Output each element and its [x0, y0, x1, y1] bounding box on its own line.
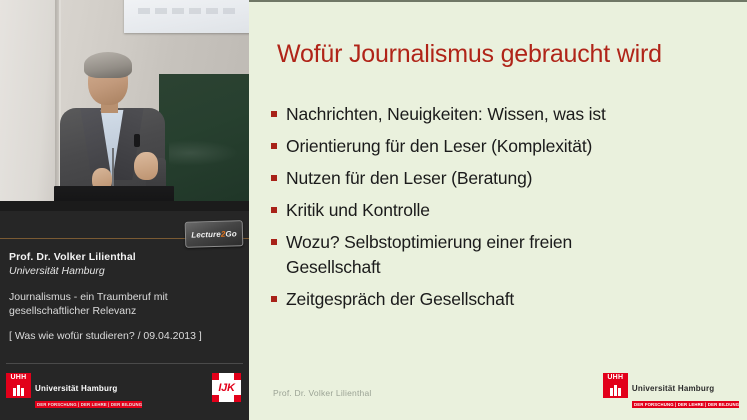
panel-divider [6, 363, 243, 364]
uhh-wordmark: Universität Hamburg DER FORSCHUNG | DER … [35, 373, 142, 411]
lecture-series-meta: [ Was wie wofür studieren? / 09.04.2013 … [9, 330, 202, 342]
uhh-tagline-band: DER FORSCHUNG | DER LEHRE | DER BILDUNG [35, 401, 142, 408]
bullet-square-icon [271, 296, 277, 302]
lecture-hall-pillar [0, 0, 57, 211]
ijk-abbreviation: IJK [212, 373, 241, 402]
uhh-tagline-band: DER FORSCHUNG | DER LEHRE | DER BILDUNG [632, 401, 739, 408]
uhh-name: Universität Hamburg [632, 384, 739, 393]
slide-bullet-list: Nachrichten, Neuigkeiten: Wissen, was is… [271, 102, 731, 319]
bullet-item: Nutzen für den Leser (Beratung) [271, 166, 731, 191]
slide-pane[interactable]: Wofür Journalismus gebraucht wird Nachri… [249, 0, 747, 420]
lecture-title: Journalismus - ein Traumberuf mit gesell… [9, 290, 224, 318]
bullet-text: Wozu? Selbstoptimierung einer freien Ges… [286, 230, 638, 280]
bullet-square-icon [271, 207, 277, 213]
clip-microphone-icon [134, 134, 140, 147]
uhh-logo-slide: UHH Universität Hamburg DER FORSCHUNG | … [603, 373, 739, 411]
bullet-square-icon [271, 239, 277, 245]
chalkboard-sheen [169, 140, 239, 166]
bullet-item: Orientierung für den Leser (Komplexität) [271, 134, 731, 159]
bullet-item: Zeitgespräch der Gesellschaft [271, 287, 731, 312]
projection-screen [124, 0, 249, 33]
badge-prefix: Lecture [191, 229, 221, 239]
bullet-text: Orientierung für den Leser (Komplexität) [286, 134, 592, 159]
uhh-abbreviation: UHH [603, 374, 628, 381]
bullet-text: Zeitgespräch der Gesellschaft [286, 287, 514, 312]
speaker-affiliation: Universität Hamburg [9, 265, 105, 277]
uhh-gate-icon: UHH [603, 373, 628, 398]
bullet-text: Kritik und Kontrolle [286, 198, 430, 223]
bullet-item: Kritik und Kontrolle [271, 198, 731, 223]
uhh-towers-icon [13, 384, 24, 396]
lecture2go-badge[interactable]: Lecture2Go [185, 220, 244, 248]
video-pane[interactable] [0, 0, 249, 211]
ijk-logo: IJK [212, 373, 241, 402]
speaker-name: Prof. Dr. Volker Lilienthal [9, 251, 136, 263]
microphone-stand [112, 148, 114, 190]
bullet-item: Nachrichten, Neuigkeiten: Wissen, was is… [271, 102, 731, 127]
speaker-hair [84, 52, 132, 78]
bullet-text: Nachrichten, Neuigkeiten: Wissen, was is… [286, 102, 606, 127]
uhh-abbreviation: UHH [6, 374, 31, 381]
left-column: Lecture2Go Prof. Dr. Volker Lilienthal U… [0, 0, 249, 420]
slide-title: Wofür Journalismus gebraucht wird [277, 40, 727, 69]
badge-suffix: Go [225, 229, 237, 238]
uhh-wordmark: Universität Hamburg DER FORSCHUNG | DER … [632, 373, 739, 411]
projection-screen-text [138, 8, 238, 14]
lecture-video-player: Lecture2Go Prof. Dr. Volker Lilienthal U… [0, 0, 747, 420]
bullet-item: Wozu? Selbstoptimierung einer freien Ges… [271, 230, 731, 280]
uhh-tagline: DER FORSCHUNG | DER LEHRE | DER BILDUNG [634, 401, 739, 408]
speaker-hand-right [134, 152, 158, 180]
bullet-text: Nutzen für den Leser (Beratung) [286, 166, 532, 191]
uhh-tagline: DER FORSCHUNG | DER LEHRE | DER BILDUNG [37, 401, 142, 408]
uhh-gate-icon: UHH [6, 373, 31, 398]
lecture-info-panel: Lecture2Go Prof. Dr. Volker Lilienthal U… [0, 211, 249, 420]
bullet-square-icon [271, 143, 277, 149]
uhh-logo-panel: UHH Universität Hamburg DER FORSCHUNG | … [6, 373, 142, 411]
lecture2go-badge-label: Lecture2Go [191, 229, 237, 239]
slide-footer-speaker-name: Prof. Dr. Volker Lilienthal [273, 388, 371, 398]
video-letterbox [0, 201, 249, 211]
bullet-square-icon [271, 175, 277, 181]
uhh-towers-icon [610, 384, 621, 396]
bullet-square-icon [271, 111, 277, 117]
uhh-name: Universität Hamburg [35, 384, 142, 393]
